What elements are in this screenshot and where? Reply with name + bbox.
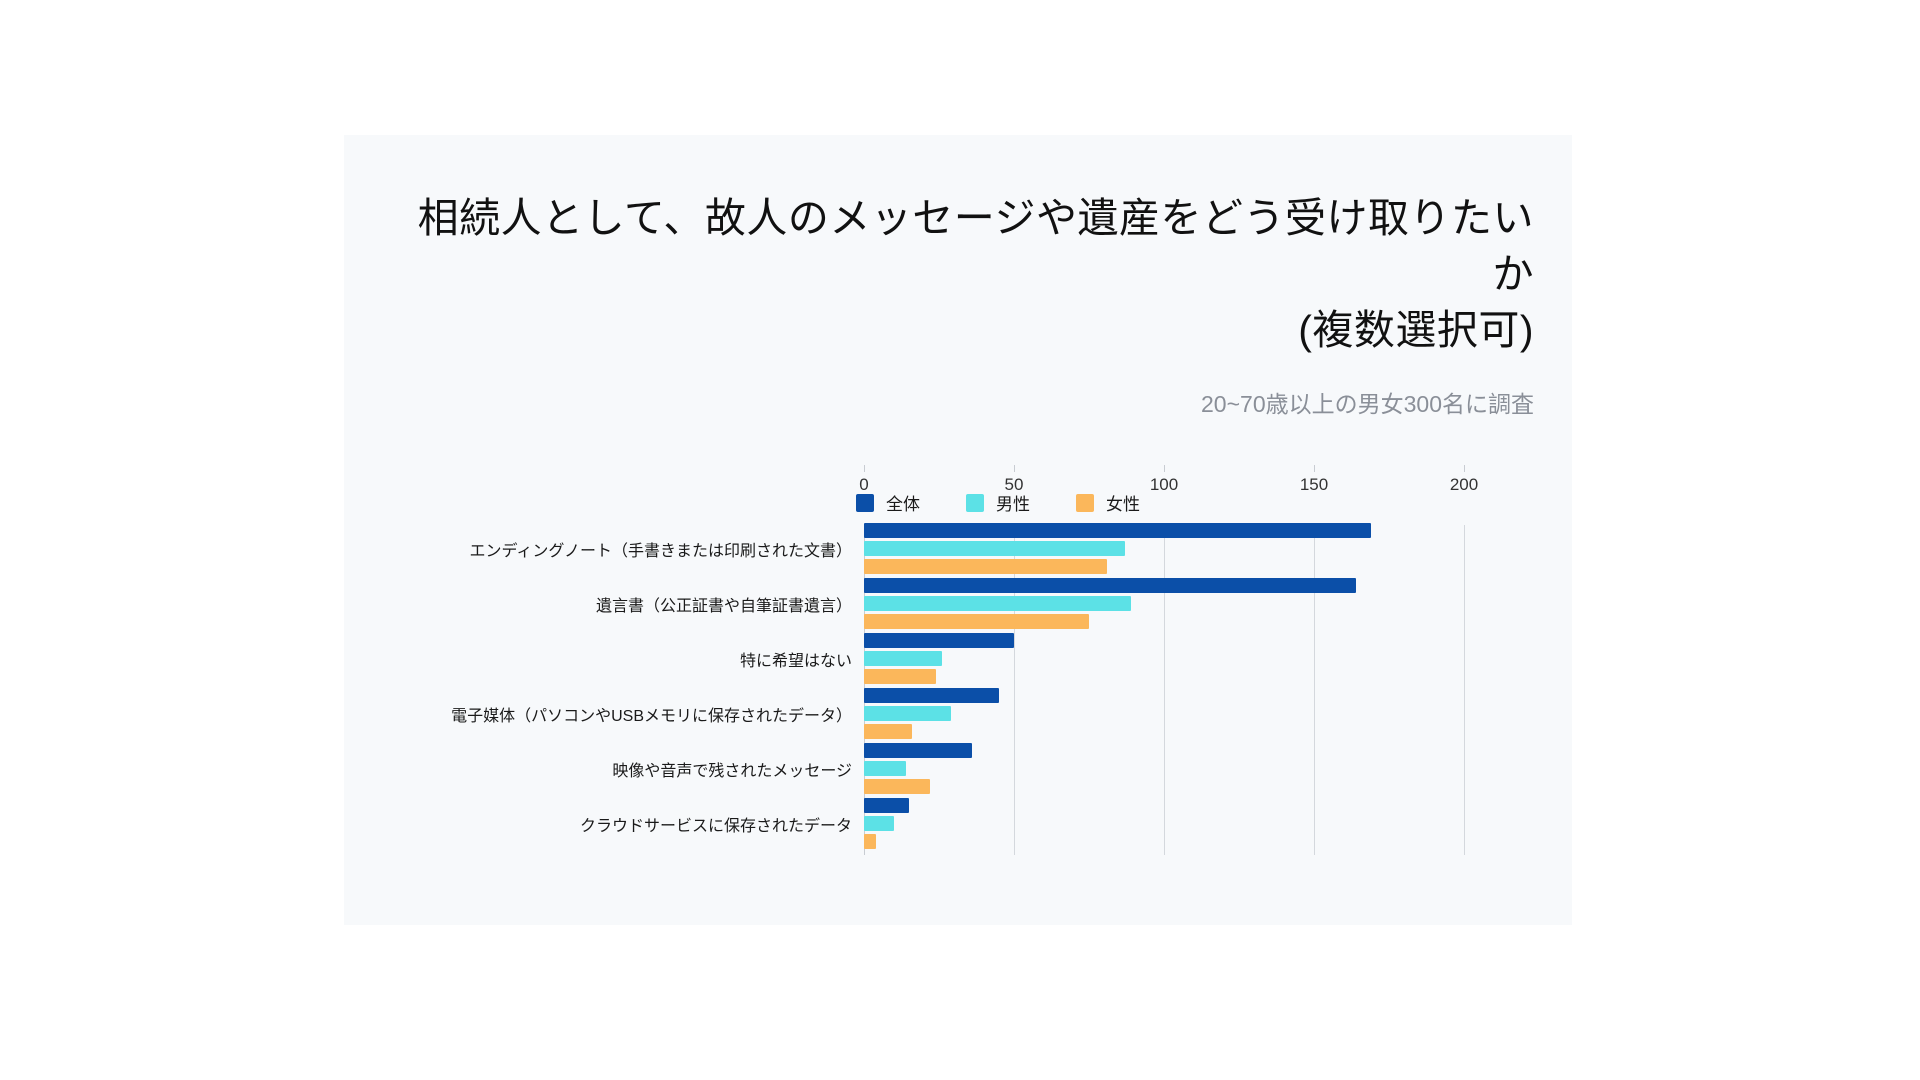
- bar[interactable]: [864, 633, 1014, 648]
- chart-title: 相続人として、故人のメッセージや遺産をどう受け取りたいか (複数選択可): [384, 190, 1534, 358]
- axis-tick: [864, 465, 865, 472]
- bar[interactable]: [864, 743, 972, 758]
- category-label: 遺言書（公正証書や自筆証書遺言）: [596, 592, 852, 616]
- gridline: [1464, 525, 1465, 855]
- bar[interactable]: [864, 688, 999, 703]
- bar[interactable]: [864, 596, 1131, 611]
- gridline: [1314, 525, 1315, 855]
- value-axis: 050100150200: [864, 465, 1464, 505]
- axis-tick-label: 0: [859, 475, 868, 495]
- bar[interactable]: [864, 706, 951, 721]
- bars-region: [864, 525, 1464, 855]
- category-axis-labels: エンディングノート（手書きまたは印刷された文書）遺言書（公正証書や自筆証書遺言）…: [344, 525, 852, 855]
- axis-tick: [1164, 465, 1165, 472]
- category-label: 映像や音声で残されたメッセージ: [612, 757, 852, 781]
- gridline: [1014, 525, 1015, 855]
- chart-panel: 相続人として、故人のメッセージや遺産をどう受け取りたいか (複数選択可) 20~…: [344, 135, 1572, 925]
- bar[interactable]: [864, 651, 942, 666]
- bar[interactable]: [864, 523, 1371, 538]
- chart-subtitle: 20~70歳以上の男女300名に調査: [384, 385, 1534, 419]
- bar[interactable]: [864, 798, 909, 813]
- axis-tick-label: 100: [1150, 475, 1178, 495]
- gridline: [1164, 525, 1165, 855]
- bar[interactable]: [864, 541, 1125, 556]
- axis-tick-label: 200: [1450, 475, 1478, 495]
- bar[interactable]: [864, 724, 912, 739]
- axis-tick: [1464, 465, 1465, 472]
- category-label: エンディングノート（手書きまたは印刷された文書）: [469, 537, 852, 561]
- axis-tick: [1014, 465, 1015, 472]
- plot-area: エンディングノート（手書きまたは印刷された文書）遺言書（公正証書や自筆証書遺言）…: [344, 525, 1572, 855]
- chart-screenshot: 相続人として、故人のメッセージや遺産をどう受け取りたいか (複数選択可) 20~…: [0, 0, 1920, 1080]
- bar[interactable]: [864, 761, 906, 776]
- chart-title-line2: (複数選択可): [384, 302, 1534, 358]
- axis-tick: [1314, 465, 1315, 472]
- bar[interactable]: [864, 578, 1356, 593]
- bar[interactable]: [864, 816, 894, 831]
- bar[interactable]: [864, 559, 1107, 574]
- axis-tick-label: 50: [1005, 475, 1024, 495]
- bar[interactable]: [864, 779, 930, 794]
- bar[interactable]: [864, 834, 876, 849]
- bar[interactable]: [864, 669, 936, 684]
- bar[interactable]: [864, 614, 1089, 629]
- chart-title-line1: 相続人として、故人のメッセージや遺産をどう受け取りたいか: [384, 190, 1534, 302]
- category-label: クラウドサービスに保存されたデータ: [580, 812, 852, 836]
- axis-tick-label: 150: [1300, 475, 1328, 495]
- category-label: 特に希望はない: [740, 647, 852, 671]
- category-label: 電子媒体（パソコンやUSBメモリに保存されたデータ）: [451, 702, 852, 726]
